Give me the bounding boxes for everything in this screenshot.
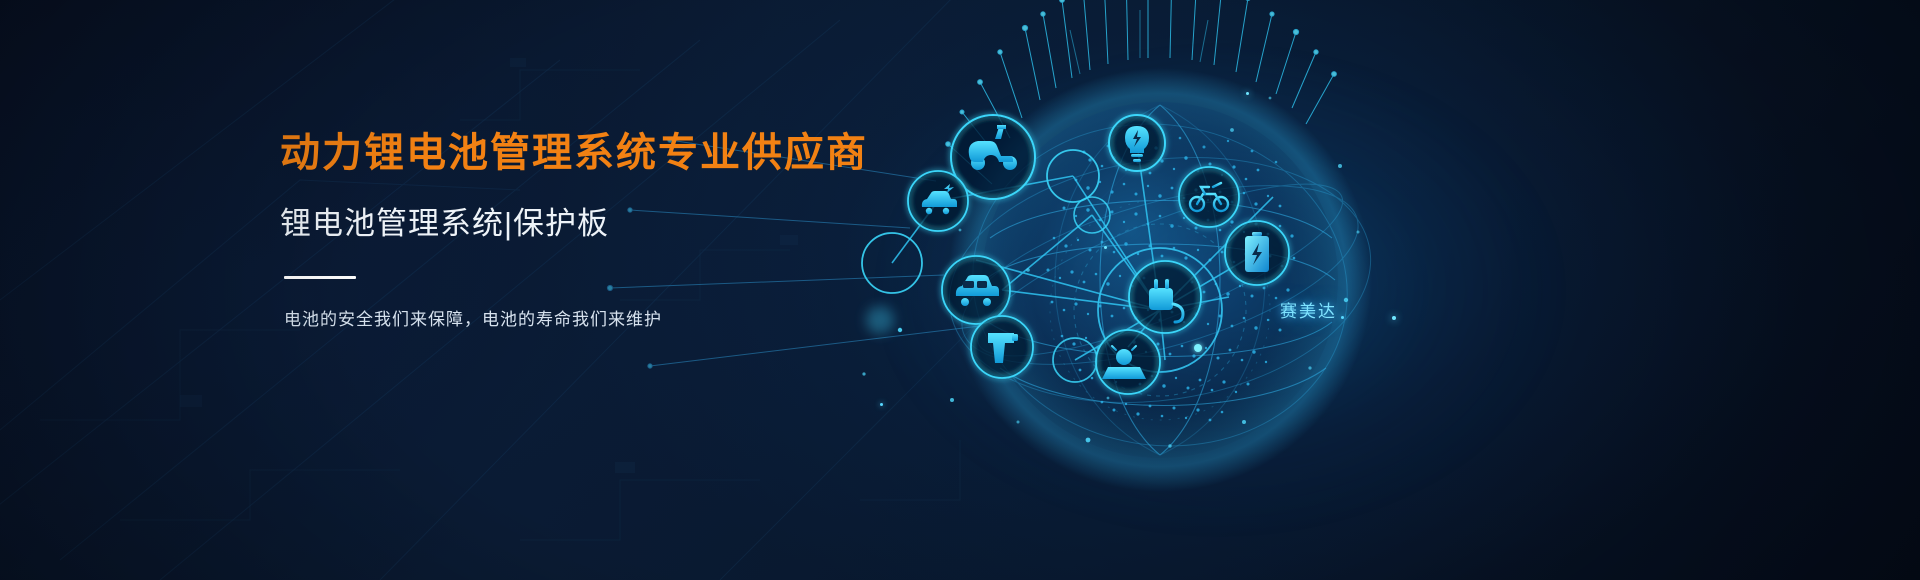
globe-svg [840, 0, 1540, 580]
subheadline: 锂电池管理系统|保护板 [280, 204, 840, 244]
tagline: 电池的安全我们来保障，电池的寿命我们来维护 [284, 305, 840, 330]
car-icon [942, 256, 1010, 324]
motorcycle-icon [1179, 167, 1239, 227]
network-globe-illustration [840, 0, 1540, 580]
solar-panel-icon [1096, 330, 1160, 394]
hero-banner: 赛美达 动力锂电池管理系统专业供应商 锂电池管理系统|保护板 电池的安全我们来保… [0, 0, 1920, 580]
divider-rule [284, 276, 356, 279]
headline: 动力锂电池管理系统专业供应商 [280, 128, 840, 178]
power-plug-icon [1129, 261, 1201, 333]
battery-bolt-icon [1225, 221, 1289, 285]
lightbulb-bolt-icon [1109, 115, 1165, 171]
hero-copy-block: 动力锂电池管理系统专业供应商 锂电池管理系统|保护板 电池的安全我们来保障，电池… [280, 128, 840, 330]
power-drill-icon [971, 316, 1033, 378]
ev-car-icon [908, 171, 968, 231]
